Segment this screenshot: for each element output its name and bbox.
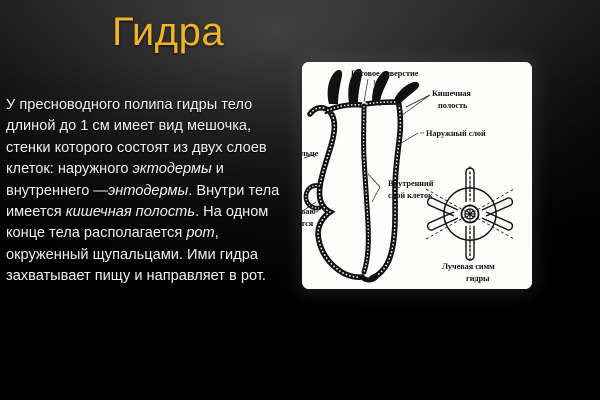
label-gastric-cavity-line1: Кишечная bbox=[432, 89, 471, 98]
label-budding-clipped-line2: тся bbox=[302, 219, 314, 228]
mouth-ring-spokes bbox=[465, 209, 475, 219]
presentation-slide: Гидра У пресноводного полипа гидры тело … bbox=[0, 0, 600, 400]
label-tentacle-clipped: льце bbox=[302, 149, 319, 158]
label-mouth-opening: Ротовое отверстие bbox=[351, 69, 419, 78]
body-paragraph: У пресноводного полипа гидры тело длиной… bbox=[6, 95, 296, 288]
page-title: Гидра bbox=[112, 10, 224, 54]
label-inner-layer-line1: Внутренний bbox=[388, 179, 434, 188]
label-outer-layer: Наружный слой bbox=[426, 129, 486, 138]
label-radial-symmetry-line2: гидры bbox=[466, 274, 490, 283]
body-segment-1-ectoderm: эктодермы bbox=[133, 161, 212, 177]
hydra-diagram-panel: Ротовое отверстие Кишечная полость Наруж… bbox=[302, 62, 532, 289]
body-segment-5-gastric-cavity: кишечная полость bbox=[66, 204, 195, 220]
hydra-anatomy-illustration: Ротовое отверстие Кишечная полость Наруж… bbox=[302, 62, 532, 289]
label-radial-symmetry-line1: Лучевая симм bbox=[442, 262, 495, 271]
body-segment-7-mouth: рот bbox=[186, 225, 214, 241]
body-segment-3-endoderm: энтодермы bbox=[108, 183, 188, 199]
label-gastric-cavity-line2: полость bbox=[438, 101, 468, 110]
label-inner-layer-line2: слой клеток bbox=[388, 191, 433, 200]
label-budding-clipped-line1: ваю- bbox=[302, 207, 319, 216]
